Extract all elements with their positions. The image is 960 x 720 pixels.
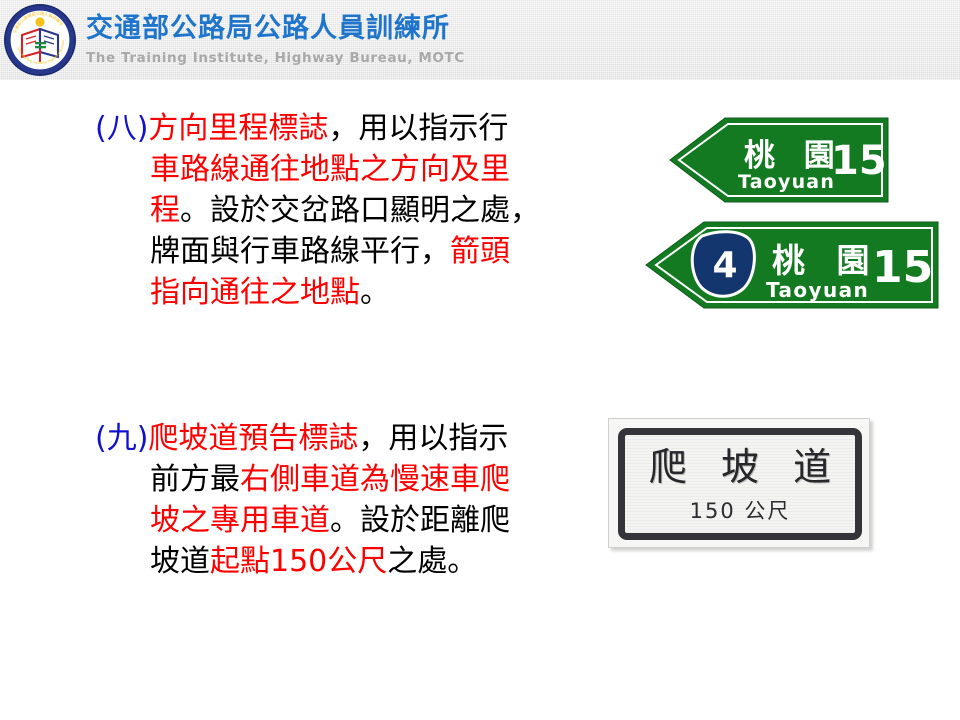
route-shield-4-icon: 4 [692, 232, 754, 297]
sign-distance: 15 [831, 138, 887, 184]
climbing-lane-sign-face: 爬 坡 道 150 公尺 [618, 428, 862, 540]
paragraph-line: 牌面與行車路線平行，箭頭 [95, 231, 540, 272]
header-text-block: 交通部公路局公路人員訓練所 The Training Institute, Hi… [86, 12, 465, 68]
text-run: ，用以指示 [358, 421, 508, 456]
paragraph-item-9: (九)爬坡道預告標誌，用以指示 前方最右側車道為慢速車爬 坡之專用車道。設於距離… [95, 418, 510, 582]
direction-mileage-sign-plain: 桃 園 15 Taoyuan [668, 116, 890, 208]
paragraph-line: (九)爬坡道預告標誌，用以指示 [95, 418, 510, 459]
text-run: 之處。 [387, 544, 477, 579]
text-run: 。設於距離爬 [330, 503, 510, 538]
sign-place-en: Taoyuan [738, 171, 835, 193]
sign-place-zh: 桃 園 [744, 138, 844, 174]
text-run: 指向通往之地點 [150, 275, 360, 310]
sign-distance: 15 [872, 242, 933, 293]
svg-text:4: 4 [712, 245, 737, 286]
sign-place-en: Taoyuan [766, 278, 869, 302]
training-institute-emblem-icon: 交通部公路總局公路人員訓練所 The Training Institute Hi… [2, 2, 78, 78]
text-run: 前方最 [150, 462, 240, 497]
paragraph-line: (八)方向里程標誌，用以指示行 [95, 108, 540, 149]
paragraph-line: 坡道起點150公尺之處。 [95, 541, 510, 582]
text-run: 程 [150, 193, 180, 228]
text-run: 車路線通往地點之方向及里 [150, 152, 510, 187]
paragraph-line: 坡之專用車道。設於距離爬 [95, 500, 510, 541]
text-run: 起點150公尺 [210, 544, 387, 579]
text-run: 。設於交岔路口顯明之處， [180, 193, 540, 228]
text-run: 牌面與行車路線平行， [150, 234, 450, 269]
text-run: 爬坡道預告標誌 [148, 421, 358, 456]
institute-title: 交通部公路局公路人員訓練所 [86, 12, 465, 46]
institute-subtitle: The Training Institute, Highway Bureau, … [86, 48, 465, 68]
slide: 交通部公路總局公路人員訓練所 The Training Institute Hi… [0, 0, 960, 720]
sign-place-zh: 桃 園 [772, 241, 880, 280]
paragraph-line: 前方最右側車道為慢速車爬 [95, 459, 510, 500]
climbing-lane-sign-subtitle: 150 公尺 [625, 497, 855, 525]
text-run: 方向里程標誌 [148, 111, 328, 146]
text-run: 右側車道為慢速車爬 [240, 462, 510, 497]
list-marker: (八) [95, 111, 148, 146]
text-run: 箭頭 [450, 234, 510, 269]
text-run: 。 [360, 275, 390, 310]
list-marker: (九) [95, 421, 148, 456]
paragraph-line: 指向通往之地點。 [95, 272, 540, 313]
climbing-lane-ahead-sign: 爬 坡 道 150 公尺 [608, 418, 870, 548]
paragraph-line: 車路線通往地點之方向及里 [95, 149, 540, 190]
paragraph-line: 程。設於交岔路口顯明之處， [95, 190, 540, 231]
text-run: ，用以指示行 [328, 111, 508, 146]
paragraph-item-8: (八)方向里程標誌，用以指示行 車路線通往地點之方向及里 程。設於交岔路口顯明之… [95, 108, 540, 313]
climbing-lane-sign-title: 爬 坡 道 [625, 443, 855, 491]
text-run: 坡之專用車道 [150, 503, 330, 538]
slide-header: 交通部公路總局公路人員訓練所 The Training Institute Hi… [0, 0, 960, 80]
direction-mileage-sign-with-route: 4 桃 園 15 Taoyuan [644, 220, 940, 314]
text-run: 坡道 [150, 544, 210, 579]
